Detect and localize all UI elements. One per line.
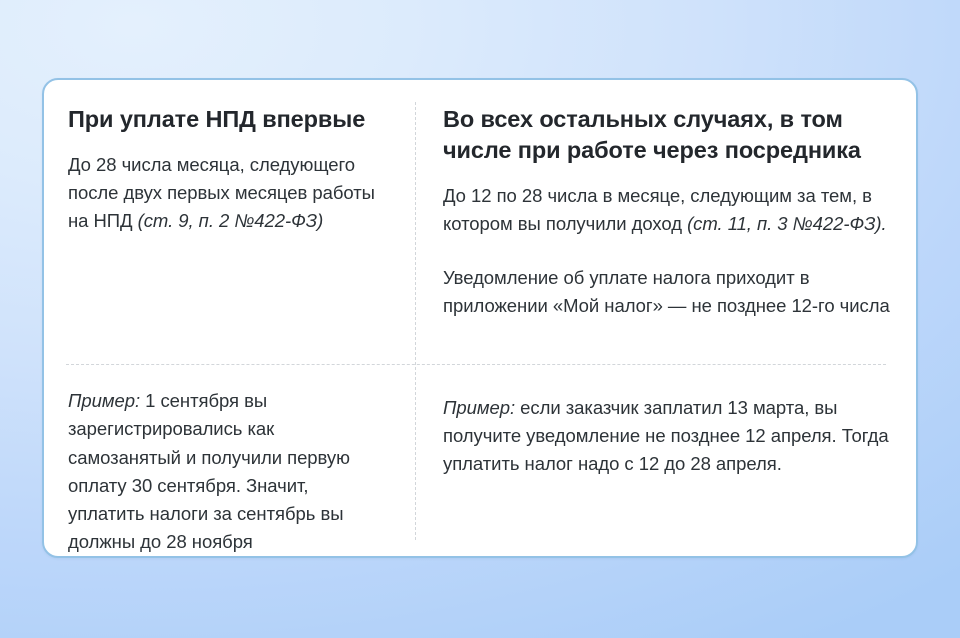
column-other-cases-example: Пример: если заказчик заплатил 13 марта,… bbox=[443, 364, 892, 478]
example-first-time: Пример: 1 сентября вы зарегистрировались… bbox=[68, 387, 383, 556]
column-other-cases: Во всех остальных случаях, в том числе п… bbox=[417, 80, 916, 556]
example-label: Пример: bbox=[68, 390, 140, 411]
heading-other-cases: Во всех остальных случаях, в том числе п… bbox=[443, 104, 892, 167]
paragraph-text: Уведомление об уплате налога приходит в … bbox=[443, 267, 890, 316]
column-first-time-main: При уплате НПД впервые До 28 числа месяц… bbox=[68, 104, 383, 357]
heading-first-time: При уплате НПД впервые bbox=[68, 104, 383, 135]
legal-citation: (ст. 11, п. 3 №422-ФЗ). bbox=[687, 213, 887, 234]
column-first-time-example: Пример: 1 сентября вы зарегистрировались… bbox=[68, 357, 383, 556]
paragraph-first-time-rule: До 28 числа месяца, следующего после дву… bbox=[68, 151, 383, 235]
example-label: Пример: bbox=[443, 397, 515, 418]
legal-citation: (ст. 9, п. 2 №422-ФЗ) bbox=[138, 210, 324, 231]
column-other-cases-main: Во всех остальных случаях, в том числе п… bbox=[443, 104, 892, 364]
example-text: 1 сентября вы зарегистрировались как сам… bbox=[68, 390, 350, 552]
column-first-time: При уплате НПД впервые До 28 числа месяц… bbox=[44, 80, 417, 556]
card-columns: При уплате НПД впервые До 28 числа месяц… bbox=[44, 80, 916, 556]
page-background: При уплате НПД впервые До 28 числа месяц… bbox=[0, 0, 960, 638]
paragraph-other-cases-notification: Уведомление об уплате налога приходит в … bbox=[443, 264, 892, 320]
info-card: При уплате НПД впервые До 28 числа месяц… bbox=[42, 78, 918, 558]
paragraph-other-cases-rule: До 12 по 28 числа в месяце, следующим за… bbox=[443, 182, 892, 238]
example-other-cases: Пример: если заказчик заплатил 13 марта,… bbox=[443, 394, 892, 478]
